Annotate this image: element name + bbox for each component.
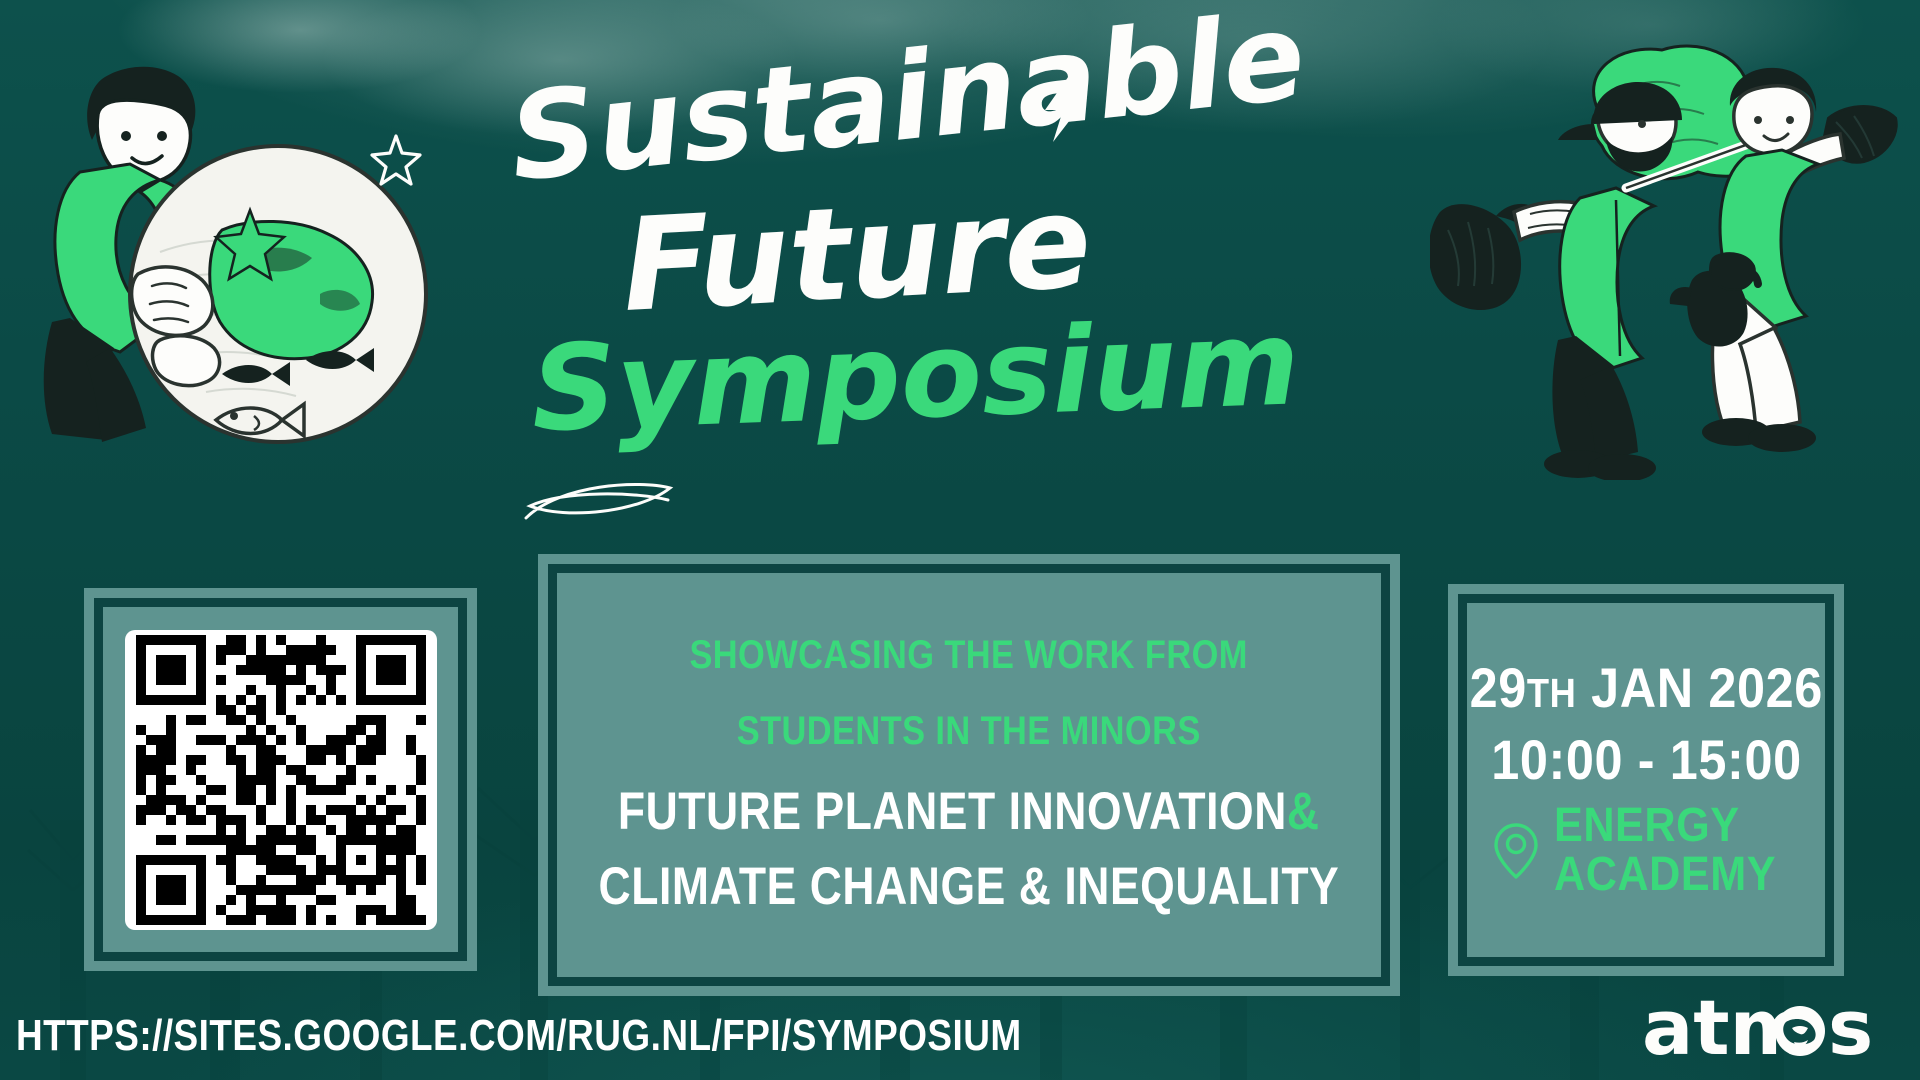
- qr-code-image[interactable]: [125, 630, 437, 930]
- illustration-person-with-globe: [10, 22, 480, 492]
- event-location: Energy Academy: [1492, 802, 1801, 900]
- info-panel: Showcasing the work from students in the…: [538, 554, 1400, 996]
- illustration-two-volunteers: [1430, 40, 1910, 480]
- date-suffix: th: [1527, 670, 1577, 716]
- atmos-logo[interactable]: atm s: [1642, 984, 1892, 1070]
- event-date: 29th Jan 2026: [1469, 660, 1822, 716]
- date-rest: Jan 2026: [1576, 656, 1822, 719]
- location-pin-icon: [1492, 821, 1540, 881]
- star-sparkle-icon: [368, 130, 424, 186]
- minor-line-1: Future Planet Innovation&: [618, 785, 1320, 838]
- event-url[interactable]: HTTPS://SITES.GOOGLE.COM/RUG.NL/FPI/SYMP…: [16, 1014, 1022, 1058]
- event-time: 10:00 - 15:00: [1491, 732, 1801, 788]
- location-line-1: Energy: [1554, 802, 1740, 851]
- title-line-3: Symposium: [529, 293, 1301, 458]
- logo-text-s: s: [1828, 984, 1873, 1070]
- minor-line-2: Climate Change & Inequality: [599, 860, 1340, 913]
- date-number: 29: [1469, 656, 1526, 719]
- underline-squiggle: [520, 478, 680, 528]
- date-time-location-panel: 29th Jan 2026 10:00 - 15:00 Energy Acade…: [1448, 584, 1844, 976]
- qr-code-panel[interactable]: [84, 588, 477, 971]
- globe-icon: [1775, 1006, 1825, 1056]
- location-line-2: Academy: [1554, 851, 1776, 900]
- poster-title: Sustainable Future Symposium: [515, 62, 1275, 462]
- minor-1-title: Future Planet Innovation: [618, 782, 1287, 841]
- poster-canvas: Sustainable Future Symposium Showcasing …: [0, 0, 1920, 1080]
- info-subtitle-line-2: students in the minors: [737, 711, 1201, 751]
- info-subtitle-line-1: Showcasing the work from: [690, 635, 1248, 675]
- ampersand: &: [1287, 782, 1320, 841]
